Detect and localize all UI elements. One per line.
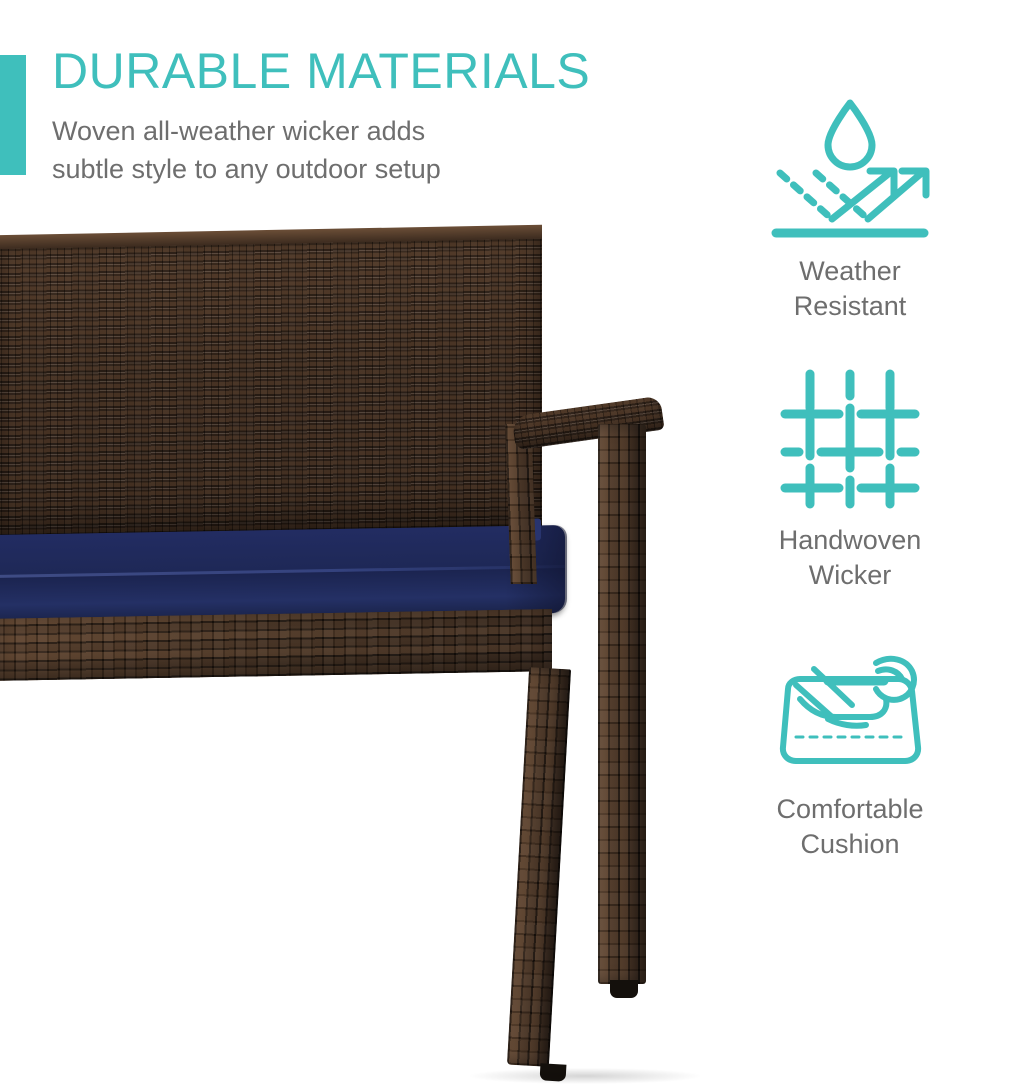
feature-label-comfortable-cushion: Comfortable Cushion <box>700 792 1000 861</box>
bench-seat-cushion <box>0 525 565 623</box>
feature-label-handwoven-wicker: Handwoven Wicker <box>700 523 1000 592</box>
feature-label-weather-resistant: Weather Resistant <box>700 254 1000 323</box>
bench-rear-leg <box>507 667 571 1067</box>
floor-shadow <box>470 1068 700 1084</box>
feature-item-comfortable-cushion: Comfortable Cushion <box>700 628 1000 861</box>
feature-label-line-2: Resistant <box>700 289 1000 324</box>
feature-item-weather-resistant: Weather Resistant <box>700 90 1000 323</box>
woven-basket-weave-grid-icon <box>700 359 1000 519</box>
page-title: DURABLE MATERIALS <box>52 46 590 96</box>
product-feature-banner: DURABLE MATERIALS Woven all-weather wick… <box>0 0 1024 1024</box>
page-subtitle-line-2: subtle style to any outdoor setup <box>52 150 612 188</box>
feature-label-line-1: Handwoven <box>700 523 1000 558</box>
feature-label-line-1: Comfortable <box>700 792 1000 827</box>
feature-label-line-2: Cushion <box>700 827 1000 862</box>
water-droplet-repel-icon <box>700 90 1000 250</box>
accent-bar <box>0 55 26 175</box>
page-subtitle-line-1: Woven all-weather wicker adds <box>52 112 612 150</box>
hand-pressing-cushion-icon <box>700 628 1000 788</box>
feature-item-handwoven-wicker: Handwoven Wicker <box>700 359 1000 592</box>
cushion-piping-seam <box>0 565 565 578</box>
feature-list: Weather Resistant <box>700 90 1000 861</box>
feature-label-line-1: Weather <box>700 254 1000 289</box>
feature-label-line-2: Wicker <box>700 558 1000 593</box>
product-image-wicker-bench <box>0 228 700 988</box>
page-subtitle: Woven all-weather wicker adds subtle sty… <box>52 112 612 189</box>
bench-arm-front-post <box>598 424 646 984</box>
bench-seat-frame-rail <box>0 609 552 681</box>
bench-backrest <box>0 227 542 538</box>
bench-front-foot <box>610 980 638 998</box>
